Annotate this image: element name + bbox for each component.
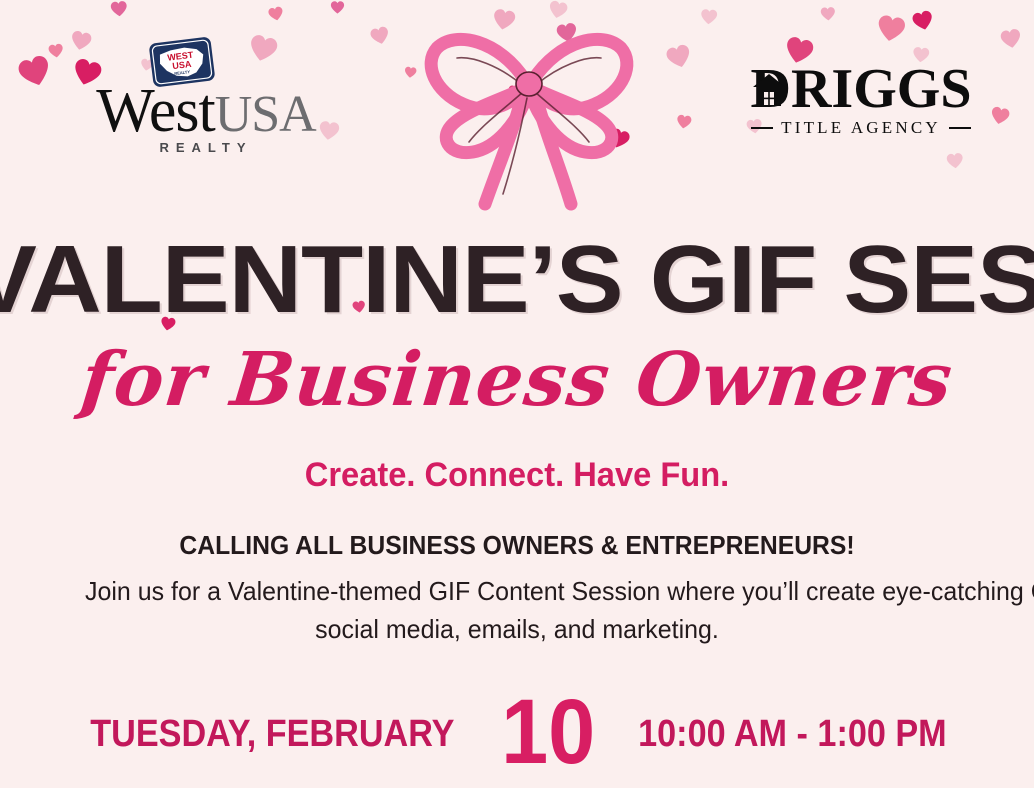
valentines-gif-session-flyer: WEST USA REALTY WestUSA REALTY DRIGGS TI… [0, 0, 1034, 788]
heart-icon [910, 8, 937, 35]
heart-icon [109, 0, 129, 19]
script-subtitle: for Business Owners [0, 338, 1034, 422]
heart-icon [47, 42, 65, 60]
heart-icon [267, 5, 286, 24]
driggs-rule-right [949, 127, 971, 129]
description: Join us for a Valentine-themed GIF Conte… [85, 572, 949, 648]
west-usa-wordmark: WestUSA [86, 80, 326, 142]
heart-icon [945, 151, 965, 171]
description-line-2: social media, emails, and marketing. [85, 610, 949, 648]
heart-icon [675, 113, 693, 131]
pink-ribbon-bow-icon [421, 22, 637, 222]
west-usa-word-usa: USA [215, 86, 316, 143]
heart-icon [330, 0, 345, 15]
heart-icon [819, 5, 836, 22]
description-line-1: Join us for a Valentine-themed GIF Conte… [85, 572, 949, 610]
west-usa-realty-subtitle: REALTY [86, 140, 326, 155]
heart-icon [546, 0, 570, 22]
heart-icon [663, 41, 695, 73]
west-usa-word-west: West [96, 77, 214, 145]
driggs-subtitle: TITLE AGENCY [781, 118, 941, 138]
event-datetime: TUESDAY, FEBRUARY 10 10:00 AM - 1:00 PM [0, 690, 1034, 778]
event-time: 10:00 AM - 1:00 PM [638, 711, 947, 757]
heart-icon [988, 104, 1012, 128]
west-usa-realty-logo: WEST USA REALTY WestUSA REALTY [86, 36, 326, 156]
heart-icon [874, 12, 909, 47]
tagline: Create. Connect. Have Fun. [21, 455, 1014, 495]
heart-icon [403, 65, 417, 79]
driggs-rule-left [751, 127, 773, 129]
heart-icon [699, 7, 718, 26]
event-date: TUESDAY, FEBRUARY [90, 711, 454, 757]
heart-icon [998, 26, 1023, 51]
event-day-number: 10 [501, 686, 595, 778]
heart-icon [368, 24, 392, 48]
driggs-subtitle-row: TITLE AGENCY [737, 118, 985, 138]
calling-heading: CALLING ALL BUSINESS OWNERS & ENTREPRENE… [26, 530, 1008, 560]
driggs-title-agency-logo: DRIGGS TITLE AGENCY [737, 62, 985, 148]
page-title: VALENTINE’S GIF SESSION [0, 232, 1034, 328]
house-icon [749, 70, 789, 110]
